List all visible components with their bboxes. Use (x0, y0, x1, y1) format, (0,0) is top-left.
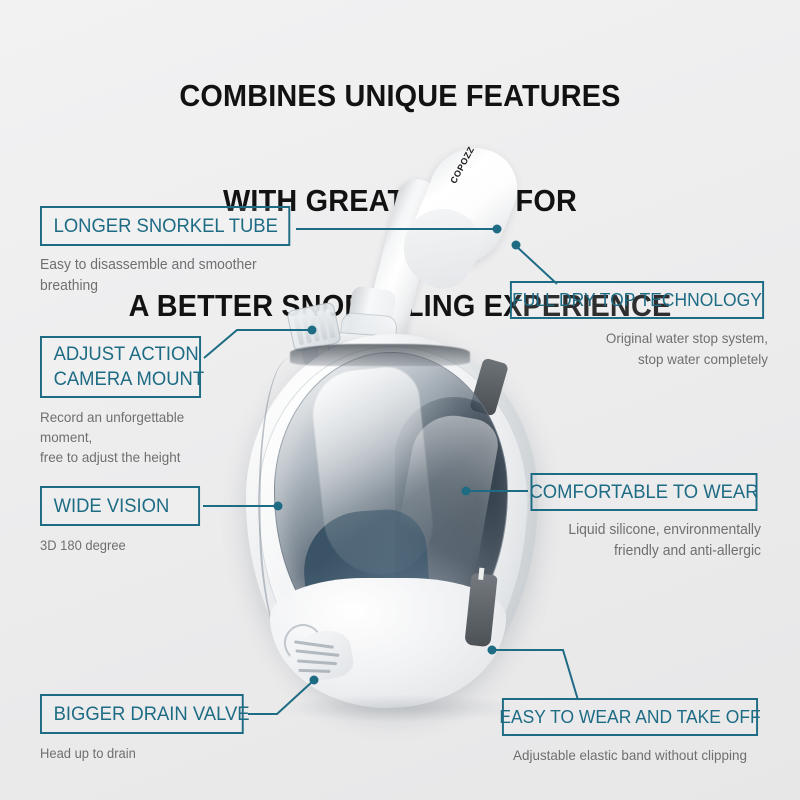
callout-title-full-dry-top-technology[interactable]: FULL DRY TOP TECHNOLOGY (510, 281, 764, 319)
callout-desc-easy-to-wear-and-take-off: Adjustable elastic band without clipping (503, 745, 756, 766)
callout-title-bigger-drain-valve[interactable]: BIGGER DRAIN VALVE (40, 694, 244, 734)
callout-title-comfortable-to-wear[interactable]: COMFORTABLE TO WEAR (531, 473, 758, 511)
callout-full-dry-top-technology[interactable]: FULL DRY TOP TECHNOLOGY Original water s… (506, 281, 768, 370)
callout-longer-snorkel-tube[interactable]: LONGER SNORKEL TUBE Easy to disassemble … (40, 206, 298, 297)
callout-adjust-action-camera-mount[interactable]: ADJUST ACTION CAMERA MOUNT Record an unf… (40, 336, 206, 467)
callout-easy-to-wear-and-take-off[interactable]: EASY TO WEAR AND TAKE OFF Adjustable ela… (498, 698, 762, 766)
callout-desc-bigger-drain-valve: Head up to drain (40, 743, 242, 764)
callout-title-easy-to-wear-and-take-off[interactable]: EASY TO WEAR AND TAKE OFF (502, 698, 758, 736)
callout-wide-vision[interactable]: WIDE VISION 3D 180 degree (40, 486, 205, 556)
infographic-stage: COMBINES UNIQUE FEATURES WITH GREAT STYL… (0, 0, 800, 800)
callout-bigger-drain-valve[interactable]: BIGGER DRAIN VALVE Head up to drain (40, 694, 250, 764)
callout-comfortable-to-wear[interactable]: COMFORTABLE TO WEAR Liquid silicone, env… (527, 473, 761, 562)
callout-desc-comfortable-to-wear: Liquid silicone, environmentally friendl… (536, 520, 761, 562)
callout-desc-adjust-action-camera-mount: Record an unforgettable moment, free to … (40, 407, 199, 467)
callout-desc-wide-vision: 3D 180 degree (40, 535, 198, 556)
callout-desc-full-dry-top-technology: Original water stop system, stop water c… (516, 328, 768, 370)
callout-title-adjust-action-camera-mount[interactable]: ADJUST ACTION CAMERA MOUNT (40, 336, 201, 398)
callout-title-wide-vision[interactable]: WIDE VISION (40, 486, 200, 526)
mask-top-vent (290, 344, 470, 366)
product-shadow (276, 694, 526, 722)
headline-line-1: COMBINES UNIQUE FEATURES (28, 78, 772, 113)
callout-desc-longer-snorkel-tube: Easy to disassemble and smoother breathi… (40, 255, 288, 297)
callout-title-longer-snorkel-tube[interactable]: LONGER SNORKEL TUBE (40, 206, 290, 246)
